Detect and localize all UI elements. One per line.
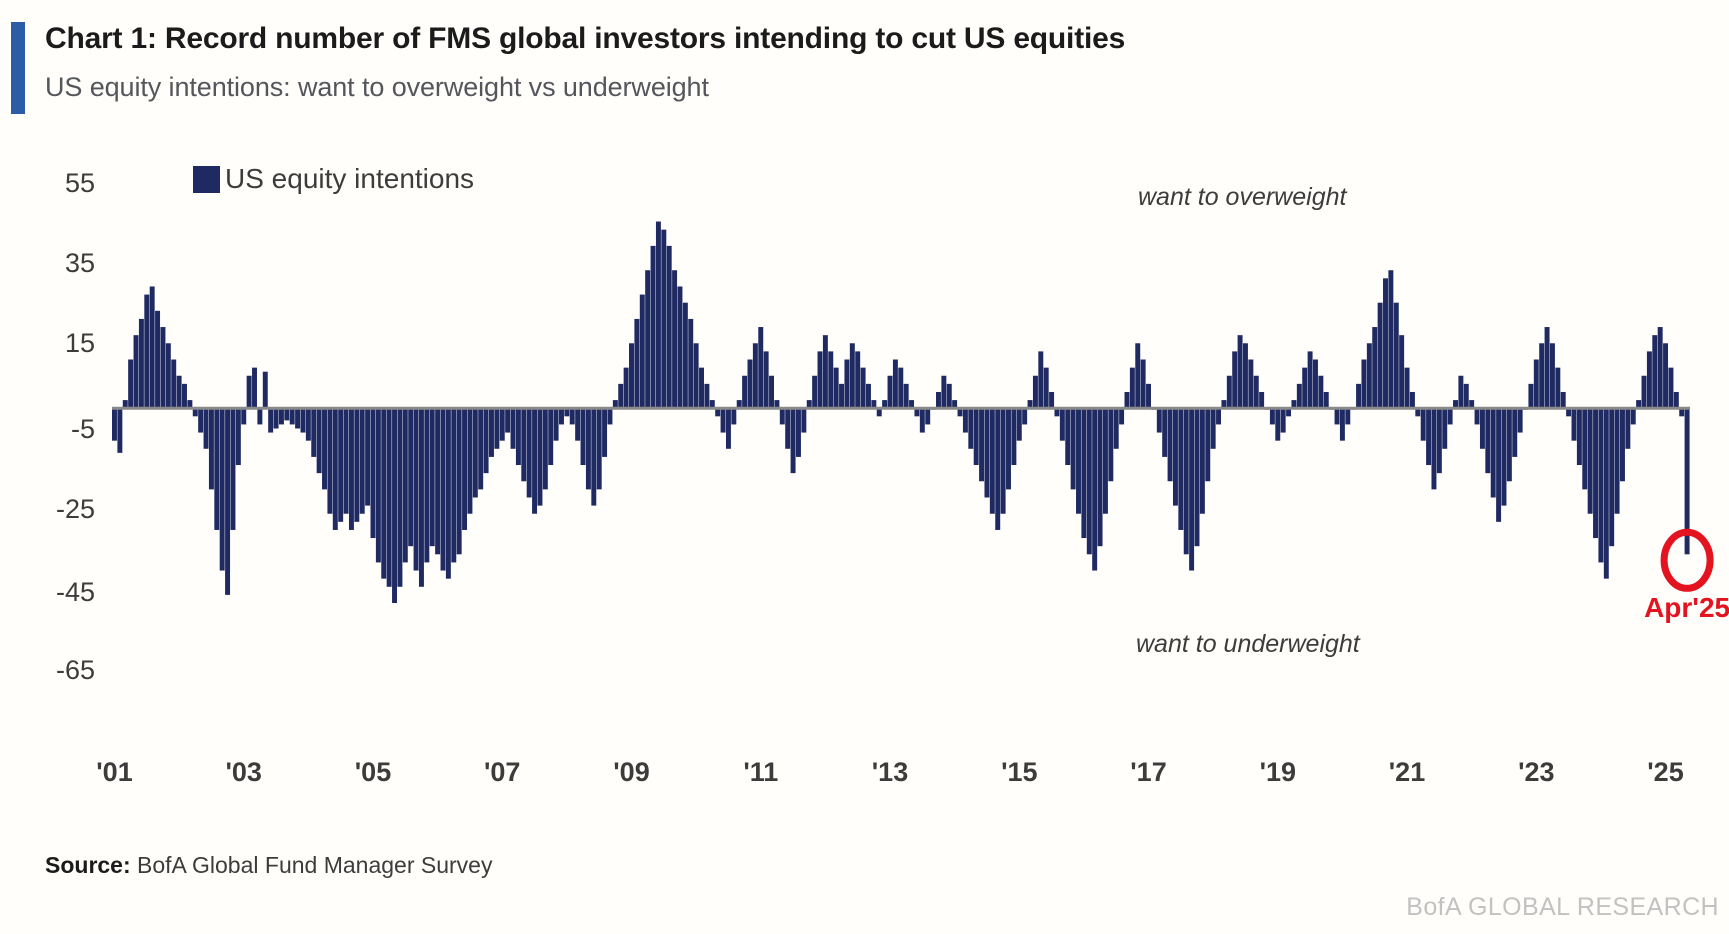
bar (1604, 408, 1609, 578)
x-axis-tick-label: '13 (845, 757, 935, 788)
bar (1017, 408, 1022, 440)
bar (1103, 408, 1108, 514)
bar (387, 408, 392, 587)
bar (1361, 360, 1366, 409)
bar (1367, 343, 1372, 408)
bar (1674, 392, 1679, 408)
bar (1216, 408, 1221, 424)
y-axis-tick-label: 55 (0, 168, 95, 199)
bar (591, 408, 596, 505)
bar (1502, 408, 1507, 505)
bar (225, 408, 230, 595)
bar (791, 408, 796, 473)
bar (338, 408, 343, 522)
bar (855, 351, 860, 408)
bar (489, 408, 494, 457)
x-axis-tick-label: '01 (70, 757, 160, 788)
bar (532, 408, 537, 514)
bar (182, 384, 187, 408)
bar (1485, 408, 1490, 473)
bar (661, 230, 666, 409)
bar (365, 408, 370, 505)
bar (1652, 335, 1657, 408)
bar (511, 408, 516, 449)
bar (1275, 408, 1280, 440)
bar (527, 408, 532, 497)
bar (1189, 408, 1194, 570)
bar (1146, 384, 1151, 408)
bar (920, 408, 925, 432)
bar (748, 360, 753, 409)
bar (505, 408, 510, 432)
bar (1281, 408, 1286, 432)
annotation-want-to-underweight: want to underweight (1136, 630, 1360, 659)
bar (1011, 408, 1016, 465)
bar (360, 408, 365, 514)
bar (581, 408, 586, 465)
y-axis-tick-label: -65 (0, 655, 95, 686)
bar (1087, 408, 1092, 554)
bar (1238, 335, 1243, 408)
x-axis-tick-label: '11 (716, 757, 806, 788)
bar (963, 408, 968, 432)
bar (688, 319, 693, 408)
bar (1065, 408, 1070, 465)
bar (478, 408, 483, 489)
x-axis-tick-label: '21 (1362, 757, 1452, 788)
y-axis-tick-label: 15 (0, 328, 95, 359)
bar (1534, 360, 1539, 409)
bar (451, 408, 456, 562)
bar (1545, 327, 1550, 408)
bar (904, 384, 909, 408)
bar (968, 408, 973, 449)
bar (1448, 408, 1453, 424)
bar (764, 351, 769, 408)
bar (1038, 351, 1043, 408)
bar (1324, 392, 1329, 408)
bar (1642, 376, 1647, 408)
bar (435, 408, 440, 554)
bar (1550, 343, 1555, 408)
bar (112, 408, 117, 440)
bar (274, 408, 279, 428)
bar (1399, 335, 1404, 408)
bar (521, 408, 526, 481)
bar (651, 246, 656, 408)
bar (333, 408, 338, 530)
bar (898, 368, 903, 409)
bar (494, 408, 499, 449)
bar (419, 408, 424, 587)
bar (780, 408, 785, 424)
bar (473, 408, 478, 497)
bar (160, 327, 165, 408)
y-axis-tick-label: 35 (0, 248, 95, 279)
y-axis-tick-label: -5 (0, 414, 95, 445)
bar (220, 408, 225, 570)
bar (559, 408, 564, 424)
bar (1378, 303, 1383, 409)
bar (1518, 408, 1523, 432)
source-label: Source: (45, 852, 131, 878)
bar (1658, 327, 1663, 408)
bar (1022, 408, 1027, 424)
bar (844, 360, 849, 409)
bar (1195, 408, 1200, 546)
bar (311, 408, 316, 457)
bar (1383, 278, 1388, 408)
bar (823, 335, 828, 408)
bar (306, 408, 311, 440)
bar (279, 408, 284, 424)
bar (1006, 408, 1011, 489)
bar (376, 408, 381, 562)
bar (177, 376, 182, 408)
bar (1528, 384, 1533, 408)
bar (1426, 408, 1431, 465)
bar (1405, 368, 1410, 409)
bar (1663, 343, 1668, 408)
bar (1437, 408, 1442, 473)
bar (295, 408, 300, 428)
bar (1609, 408, 1614, 546)
bar-chart-svg (0, 0, 1729, 934)
bar (327, 408, 332, 514)
x-axis-tick-label: '17 (1104, 757, 1194, 788)
bar (1572, 408, 1577, 440)
bar (371, 408, 376, 538)
bar (888, 376, 893, 408)
bar (1232, 351, 1237, 408)
chart-legend: US equity intentions (193, 163, 474, 195)
bar (731, 408, 736, 424)
bar (1340, 408, 1345, 440)
bar (155, 311, 160, 408)
bar (408, 408, 413, 546)
x-axis-tick-label: '07 (457, 757, 547, 788)
bar (403, 408, 408, 562)
bar (543, 408, 548, 489)
bar (1297, 384, 1302, 408)
bar (1539, 343, 1544, 408)
bar (349, 408, 354, 530)
bar (769, 376, 774, 408)
bar (1647, 351, 1652, 408)
brand-footer: BofA GLOBAL RESEARCH (1406, 893, 1719, 922)
bar (1108, 408, 1113, 481)
bar (171, 360, 176, 409)
bar (1507, 408, 1512, 481)
bar (1130, 368, 1135, 409)
x-axis-tick-label: '19 (1233, 757, 1323, 788)
bar (484, 408, 489, 473)
bar (699, 368, 704, 409)
bar (1631, 408, 1636, 424)
bar (1243, 343, 1248, 408)
bar (1308, 351, 1313, 408)
bar (268, 408, 273, 432)
bar (1577, 408, 1582, 465)
bar (1313, 360, 1318, 409)
bar (1615, 408, 1620, 514)
bar (861, 368, 866, 409)
bar (1496, 408, 1501, 522)
bar (1555, 368, 1560, 409)
x-axis-tick-label: '09 (587, 757, 677, 788)
bar (839, 384, 844, 408)
bar (645, 270, 650, 408)
bar (263, 372, 268, 409)
bar (834, 368, 839, 409)
bar (602, 408, 607, 457)
bar (1598, 408, 1603, 562)
bar (1033, 376, 1038, 408)
bar (1270, 408, 1275, 424)
bar (742, 376, 747, 408)
bar (414, 408, 419, 570)
bar (866, 384, 871, 408)
source-note: Source: BofA Global Fund Manager Survey (45, 852, 492, 879)
bar (1071, 408, 1076, 489)
bar (1211, 408, 1216, 449)
bar (1001, 408, 1006, 514)
bar (198, 408, 203, 432)
bar (758, 327, 763, 408)
x-axis-tick-label: '15 (974, 757, 1064, 788)
bar (322, 408, 327, 489)
bar (301, 408, 306, 432)
bar (1157, 408, 1162, 432)
bar (1178, 408, 1183, 530)
bar (925, 408, 930, 424)
bar (1410, 392, 1415, 408)
bar (441, 408, 446, 570)
bar (618, 384, 623, 408)
bar (984, 408, 989, 497)
bar (290, 408, 295, 424)
bar (1081, 408, 1086, 538)
bar (1318, 376, 1323, 408)
bar (1372, 327, 1377, 408)
bar (704, 384, 709, 408)
bar (150, 286, 155, 408)
bar (397, 408, 402, 587)
bar (1668, 368, 1673, 409)
bar (462, 408, 467, 530)
bar (128, 360, 133, 409)
source-value: BofA Global Fund Manager Survey (137, 852, 492, 878)
bar (624, 368, 629, 409)
bar (974, 408, 979, 465)
bar (586, 408, 591, 489)
bar (1254, 376, 1259, 408)
bar (672, 270, 677, 408)
bar (204, 408, 209, 449)
bar (1184, 408, 1189, 554)
bar (990, 408, 995, 514)
bar (801, 408, 806, 432)
bar (570, 408, 575, 424)
bar (1259, 392, 1264, 408)
bar (1512, 408, 1517, 457)
bar (284, 408, 289, 420)
x-axis-tick-label: '03 (199, 757, 289, 788)
legend-swatch-us-equity-intentions (193, 166, 220, 193)
bar (236, 408, 241, 465)
chart-plot-area: 55 35 15 -5 -25 -45 -65 US equity intent… (0, 0, 1729, 934)
bar (1248, 360, 1253, 409)
bar (1060, 408, 1065, 440)
bar (677, 286, 682, 408)
bar (1345, 408, 1350, 424)
bar (721, 408, 726, 432)
bar (139, 319, 144, 408)
bar (1431, 408, 1436, 489)
legend-label-us-equity-intentions: US equity intentions (225, 163, 474, 195)
bar (134, 335, 139, 408)
bar (947, 384, 952, 408)
bar (467, 408, 472, 514)
bar (1200, 408, 1205, 514)
bar (1168, 408, 1173, 481)
bar (818, 351, 823, 408)
bar (1114, 408, 1119, 449)
bar (457, 408, 462, 554)
bar (1464, 384, 1469, 408)
x-axis-tick-label: '25 (1621, 757, 1711, 788)
x-axis-tick-label: '23 (1491, 757, 1581, 788)
bar (144, 295, 149, 409)
bar (166, 343, 171, 408)
bar (1388, 270, 1393, 408)
bar (117, 408, 122, 453)
bar (1421, 408, 1426, 440)
bar (354, 408, 359, 522)
bar (893, 360, 898, 409)
bar (1044, 368, 1049, 409)
bar (575, 408, 580, 440)
bar (640, 295, 645, 409)
bar (1620, 408, 1625, 481)
bar (1458, 376, 1463, 408)
bar (1141, 360, 1146, 409)
bar (1582, 408, 1587, 489)
bar (424, 408, 429, 562)
bar (548, 408, 553, 465)
bar (1625, 408, 1630, 449)
bar (1335, 408, 1340, 424)
bar (554, 408, 559, 440)
bar (516, 408, 521, 465)
bar (936, 392, 941, 408)
bar (1162, 408, 1167, 457)
bar (1173, 408, 1178, 505)
bar (995, 408, 1000, 530)
y-axis-tick-label: -25 (0, 494, 95, 525)
bar (597, 408, 602, 489)
bar (812, 376, 817, 408)
bar (979, 408, 984, 481)
bar (1076, 408, 1081, 514)
bar (344, 408, 349, 514)
bar (1480, 408, 1485, 449)
bar (241, 408, 246, 424)
bar (1302, 368, 1307, 409)
bar (694, 343, 699, 408)
bar (1475, 408, 1480, 424)
bar (656, 222, 661, 409)
bar (1135, 343, 1140, 408)
bar (828, 351, 833, 408)
bar (629, 343, 634, 408)
bar (785, 408, 790, 449)
bar (1227, 376, 1232, 408)
bar (1588, 408, 1593, 514)
bar (1593, 408, 1598, 538)
bar (537, 408, 542, 505)
bar (1049, 392, 1054, 408)
bar (634, 319, 639, 408)
bar (500, 408, 505, 440)
bar (247, 376, 252, 408)
bars-group (112, 222, 1690, 603)
bar (214, 408, 219, 530)
bar (796, 408, 801, 457)
bar (1098, 408, 1103, 546)
bar (1356, 384, 1361, 408)
bar (209, 408, 214, 489)
bar (1442, 408, 1447, 449)
annotation-want-to-overweight: want to overweight (1138, 183, 1346, 212)
chart-page: Chart 1: Record number of FMS global inv… (0, 0, 1729, 934)
x-axis-tick-label: '05 (328, 757, 418, 788)
bar (1125, 392, 1130, 408)
bar (381, 408, 386, 578)
highlight-label-apr25: Apr'25 (1617, 592, 1729, 624)
bar (1561, 392, 1566, 408)
bar (252, 368, 257, 409)
bar (667, 246, 672, 408)
bar (726, 408, 731, 449)
bar (1491, 408, 1496, 497)
bar (446, 408, 451, 578)
bar (1119, 408, 1124, 424)
bar (850, 343, 855, 408)
bar (753, 343, 758, 408)
bar (607, 408, 612, 424)
bar (683, 303, 688, 409)
bar (230, 408, 235, 530)
y-axis-tick-label: -45 (0, 577, 95, 608)
bar (317, 408, 322, 473)
bar (1092, 408, 1097, 570)
bar (430, 408, 435, 546)
bar (1394, 303, 1399, 409)
bar (941, 376, 946, 408)
bar (1205, 408, 1210, 481)
bar (392, 408, 397, 603)
bar (257, 408, 262, 424)
